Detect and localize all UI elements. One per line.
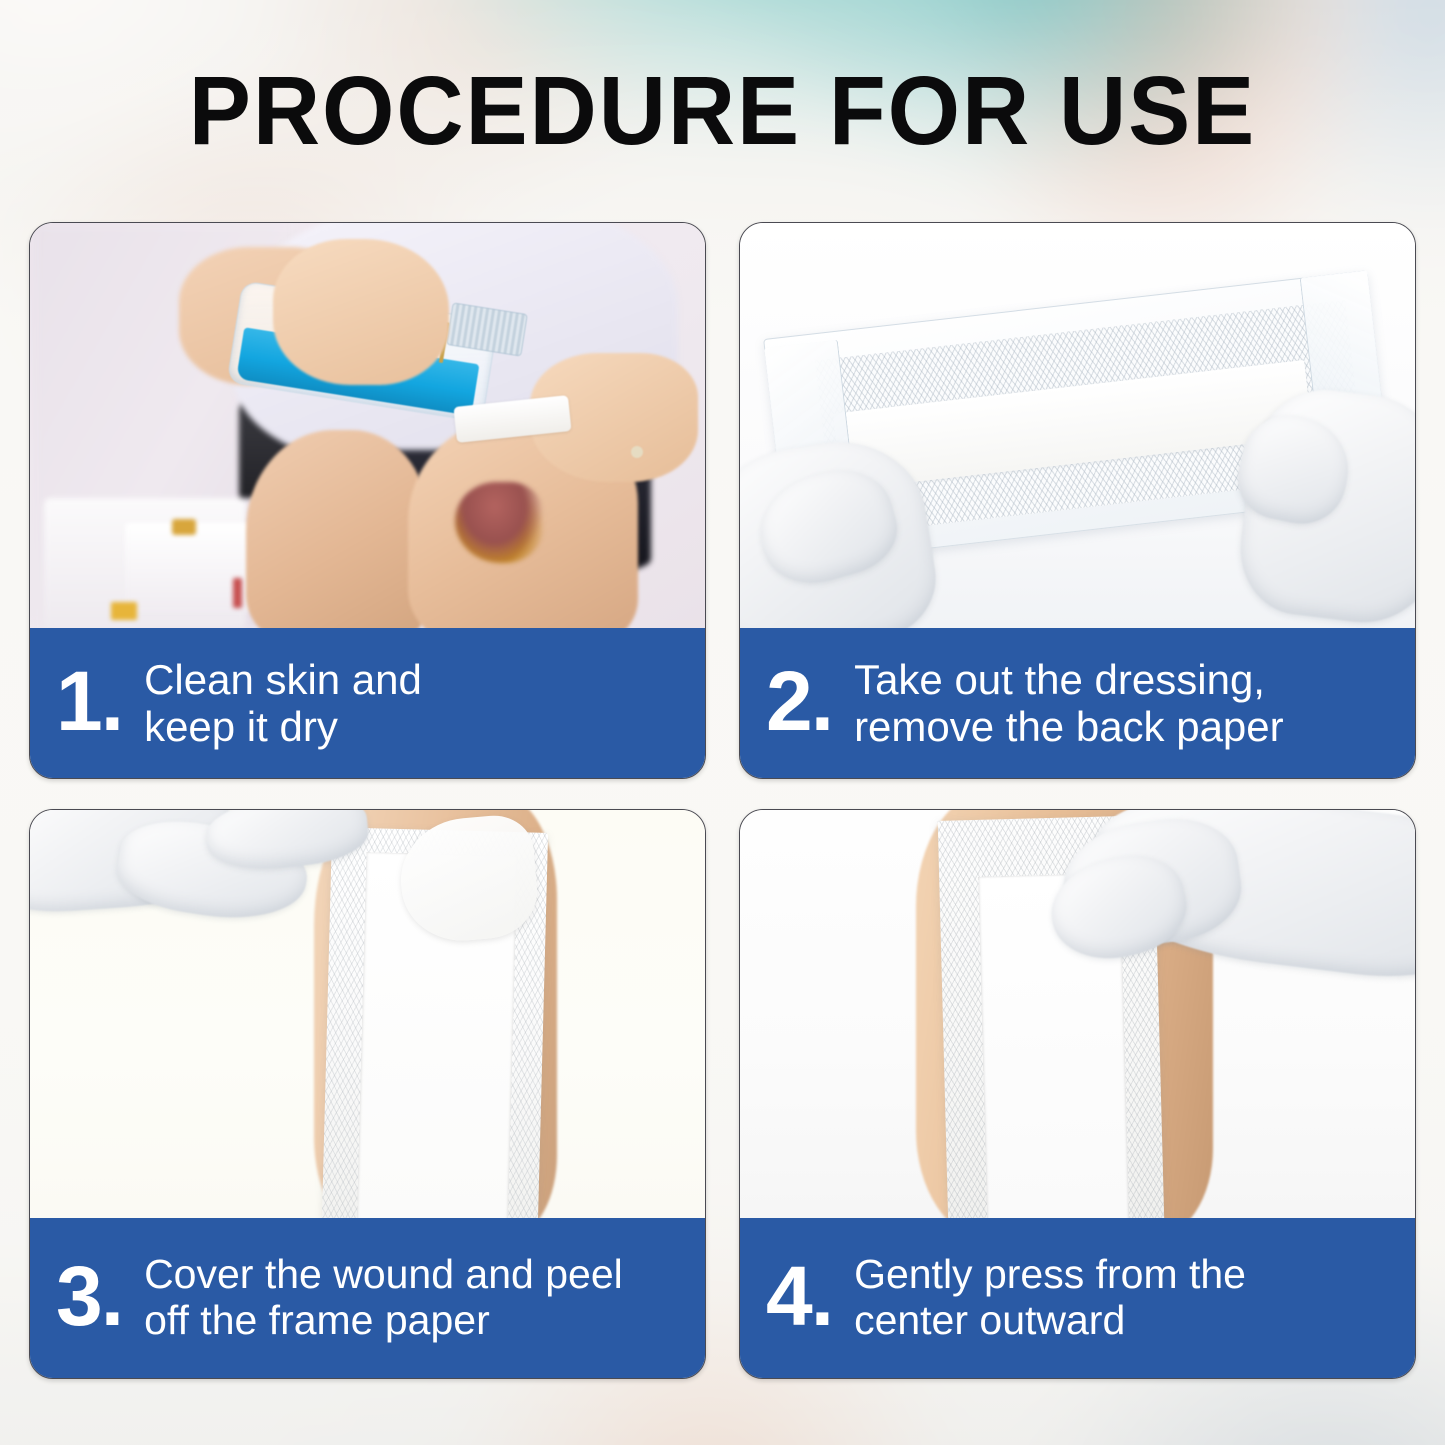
step-2-photo (740, 223, 1415, 628)
gold-container-shape (172, 519, 196, 535)
step-1-caption: 1. Clean skin and keep it dry (30, 628, 705, 778)
step-2-line-2: remove the back paper (854, 703, 1397, 750)
step-card-4: 4. Gently press from the center outward (739, 809, 1416, 1379)
step-3-photo (30, 810, 705, 1218)
step-1-number: 1. (56, 659, 122, 743)
step-3-caption: 3. Cover the wound and peel off the fram… (30, 1218, 705, 1378)
page-title: PROCEDURE FOR USE (29, 62, 1416, 159)
step-4-number: 4. (766, 1254, 832, 1338)
step-2-line-1: Take out the dressing, (854, 656, 1265, 703)
red-item-shape (233, 578, 242, 608)
steps-grid: 1. Clean skin and keep it dry (29, 222, 1416, 1379)
step-4-line-2: center outward (854, 1298, 1397, 1344)
step-3-line-1: Cover the wound and peel (144, 1251, 623, 1297)
step-1-line-1: Clean skin and (144, 656, 422, 703)
step-4-caption: 4. Gently press from the center outward (740, 1218, 1415, 1378)
step-1-line-2: keep it dry (144, 703, 687, 750)
step-4-photo (740, 810, 1415, 1218)
step-3-line-2: off the frame paper (144, 1298, 687, 1344)
knee-wound-shape (455, 482, 543, 563)
step-2-caption: 2. Take out the dressing, remove the bac… (740, 628, 1415, 778)
step-4-line-1: Gently press from the (854, 1251, 1246, 1297)
left-leg-shape (246, 430, 428, 628)
step-3-number: 3. (56, 1254, 122, 1338)
left-hand-shape (273, 239, 449, 385)
procedure-poster: PROCEDURE FOR USE (0, 0, 1445, 1445)
step-4-text: Gently press from the center outward (854, 1252, 1397, 1344)
step-2-text: Take out the dressing, remove the back p… (854, 656, 1397, 750)
step-2-number: 2. (766, 659, 832, 743)
yellow-box-shape (111, 602, 137, 620)
step-card-1: 1. Clean skin and keep it dry (29, 222, 706, 779)
step-1-text: Clean skin and keep it dry (144, 656, 687, 750)
finger-ring-shape (631, 446, 643, 458)
step-1-photo (30, 223, 705, 628)
step-card-2: 2. Take out the dressing, remove the bac… (739, 222, 1416, 779)
step-3-text: Cover the wound and peel off the frame p… (144, 1252, 687, 1344)
step-card-3: 3. Cover the wound and peel off the fram… (29, 809, 706, 1379)
